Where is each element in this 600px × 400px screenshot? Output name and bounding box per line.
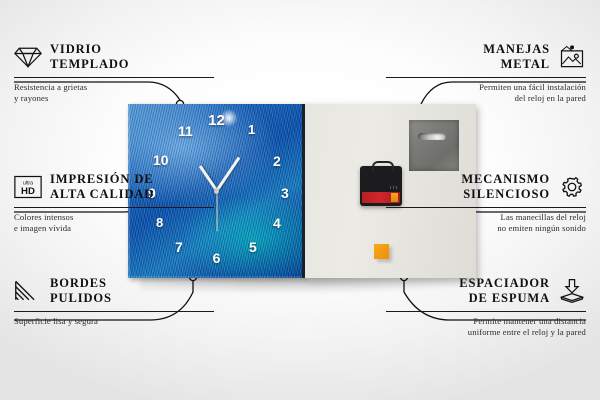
desc-line-1: Resistencia a grietas (14, 82, 87, 92)
metal-hanger-icon (409, 120, 459, 171)
desc-line-2: no emiten ningún sonido (497, 223, 586, 233)
divider (14, 77, 214, 78)
callout-header: ESPACIADOR DE ESPUMA (386, 276, 586, 307)
callout-title: BORDES PULIDOS (50, 276, 112, 307)
callout-title: MANEJAS METAL (483, 42, 550, 73)
numeral-5: 5 (249, 240, 257, 254)
numeral-4: 4 (273, 216, 281, 230)
numeral-11: 11 (178, 124, 193, 138)
infographic-canvas: 12 1 2 3 4 5 6 7 8 9 10 11 (0, 0, 600, 400)
title-line-2: METAL (501, 57, 550, 71)
callout-description: Colores intensos e imagen vívida (14, 212, 214, 235)
picture-hanger-icon (558, 44, 586, 70)
callout-description: Las manecillas del reloj no emiten ningú… (386, 212, 586, 235)
hand-center-cap (214, 189, 219, 194)
callout-header: VIDRIO TEMPLADO (14, 42, 214, 73)
divider (386, 207, 586, 208)
diamond-icon (14, 44, 42, 70)
hanger-slot (418, 133, 446, 140)
callout-description: Superficie lisa y segura (14, 316, 214, 328)
callout-header: MANEJAS METAL (386, 42, 586, 73)
callout-description: Permiten una fácil instalación del reloj… (386, 82, 586, 105)
foam-spacer (374, 244, 389, 259)
title-line-1: MANEJAS (483, 42, 550, 56)
callout-manejas-metal[interactable]: MANEJAS METAL Permiten una fácil instala… (386, 42, 586, 105)
numeral-3: 3 (281, 186, 289, 200)
callout-description: Resistencia a grietas y rayones (14, 82, 214, 105)
desc-line-1: Permite mantener una distancia (473, 316, 586, 326)
title-line-1: IMPRESIÓN DE (50, 172, 154, 186)
desc-line-1: Permiten una fácil instalación (479, 82, 586, 92)
callout-title: VIDRIO TEMPLADO (50, 42, 129, 73)
title-line-2: SILENCIOSO (463, 187, 550, 201)
title-line-2: ALTA CALIDAD (50, 187, 154, 201)
numeral-6: 6 (213, 251, 221, 265)
callout-vidrio-templado[interactable]: VIDRIO TEMPLADO Resistencia a grietas y … (14, 42, 214, 105)
title-line-1: BORDES (50, 276, 107, 290)
callout-espaciador-espuma[interactable]: ESPACIADOR DE ESPUMA Permite mantener un… (386, 276, 586, 339)
desc-line-1: Colores intensos (14, 212, 73, 222)
callout-description: Permite mantener una distancia uniforme … (386, 316, 586, 339)
callout-title: ESPACIADOR DE ESPUMA (459, 276, 550, 307)
title-line-1: VIDRIO (50, 42, 102, 56)
desc-line-1: Superficie lisa y segura (14, 316, 98, 326)
divider (386, 77, 586, 78)
divider (14, 311, 214, 312)
divider (14, 207, 214, 208)
divider (386, 311, 586, 312)
desc-line-2: uniforme entre el reloj y la pared (468, 327, 586, 337)
arrow-down-stack-icon (558, 278, 586, 304)
numeral-7: 7 (175, 240, 183, 254)
gear-icon (558, 174, 586, 200)
callout-impresion-alta-calidad[interactable]: ultra HD IMPRESIÓN DE ALTA CALIDAD Color… (14, 172, 214, 235)
title-line-2: DE ESPUMA (469, 291, 550, 305)
desc-line-2: y rayones (14, 93, 49, 103)
title-line-1: MECANISMO (461, 172, 550, 186)
title-line-1: ESPACIADOR (459, 276, 550, 290)
callout-header: BORDES PULIDOS (14, 276, 214, 307)
ultra-hd-icon: ultra HD (14, 174, 42, 200)
callout-header: ultra HD IMPRESIÓN DE ALTA CALIDAD (14, 172, 214, 203)
callout-bordes-pulidos[interactable]: BORDES PULIDOS Superficie lisa y segura (14, 276, 214, 327)
callout-mecanismo-silencioso[interactable]: MECANISMO SILENCIOSO Las manecillas del … (386, 172, 586, 235)
title-line-2: TEMPLADO (50, 57, 129, 71)
second-hand (216, 191, 217, 231)
desc-line-2: e imagen vívida (14, 223, 71, 233)
callout-header: MECANISMO SILENCIOSO (386, 172, 586, 203)
movement-hook (372, 161, 394, 172)
numeral-12: 12 (208, 113, 225, 128)
callout-title: MECANISMO SILENCIOSO (461, 172, 550, 203)
callout-title: IMPRESIÓN DE ALTA CALIDAD (50, 172, 154, 203)
hd-label: HD (21, 186, 35, 197)
numeral-1: 1 (248, 123, 255, 136)
desc-line-2: del reloj en la pared (515, 93, 586, 103)
numeral-10: 10 (153, 153, 169, 167)
numeral-2: 2 (273, 154, 281, 168)
diagonal-stripes-icon (14, 278, 42, 304)
desc-line-1: Las manecillas del reloj (501, 212, 586, 222)
title-line-2: PULIDOS (50, 291, 112, 305)
